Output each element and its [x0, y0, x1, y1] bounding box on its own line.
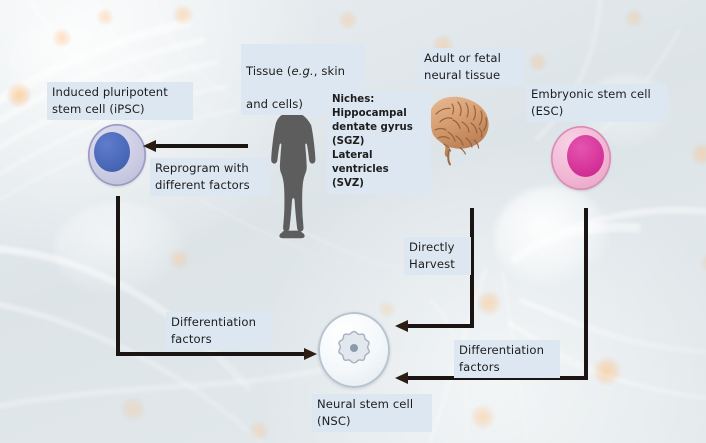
label-ipsc: Induced pluripotent stem cell (iPSC) — [47, 82, 193, 120]
label-neural-tissue: Adult or fetal neural tissue — [419, 48, 525, 86]
cell-esc — [551, 126, 611, 190]
nucleus-esc — [567, 135, 604, 177]
label-tissue-eg: e.g. — [292, 64, 314, 78]
arrow-ipsc-to-nsc-head — [304, 348, 317, 360]
label-nsc: Neural stem cell (NSC) — [312, 394, 432, 432]
cell-nsc — [318, 312, 390, 388]
arrow-tissue-to-ipsc-head — [143, 140, 156, 152]
label-differentiation-factors-left: Differentiation factors — [166, 312, 272, 350]
label-esc: Embryonic stem cell (ESC) — [526, 84, 667, 122]
label-directly-harvest: Directly Harvest — [404, 237, 471, 275]
arrow-esc-to-nsc-head — [395, 372, 408, 384]
arrow-esc-to-nsc-vline — [584, 208, 588, 380]
arrow-neural-to-nsc-head — [395, 320, 408, 332]
label-differentiation-factors-right: Differentiation factors — [454, 340, 560, 378]
label-niches: Niches: Hippocampal dentate gyrus (SGZ) … — [327, 91, 431, 194]
label-tissue-pre: Tissue ( — [246, 64, 292, 78]
arrow-ipsc-to-nsc-vline — [116, 196, 120, 356]
nucleus-ipsc — [94, 132, 130, 172]
cell-ipsc — [88, 124, 146, 186]
arrow-tissue-to-ipsc-line — [152, 144, 248, 148]
arrow-neural-to-nsc-hline — [404, 324, 474, 328]
label-tissue-line2: and cells) — [246, 97, 303, 111]
label-reprogram: Reprogram with different factors — [150, 158, 270, 196]
brain-icon — [422, 92, 500, 174]
arrow-ipsc-to-nsc-hline — [116, 352, 306, 356]
nucleus-nsc-gear-icon — [334, 329, 374, 371]
diagram-canvas: Induced pluripotent stem cell (iPSC) Tis… — [0, 0, 706, 443]
label-tissue-post: , skin — [314, 64, 345, 78]
